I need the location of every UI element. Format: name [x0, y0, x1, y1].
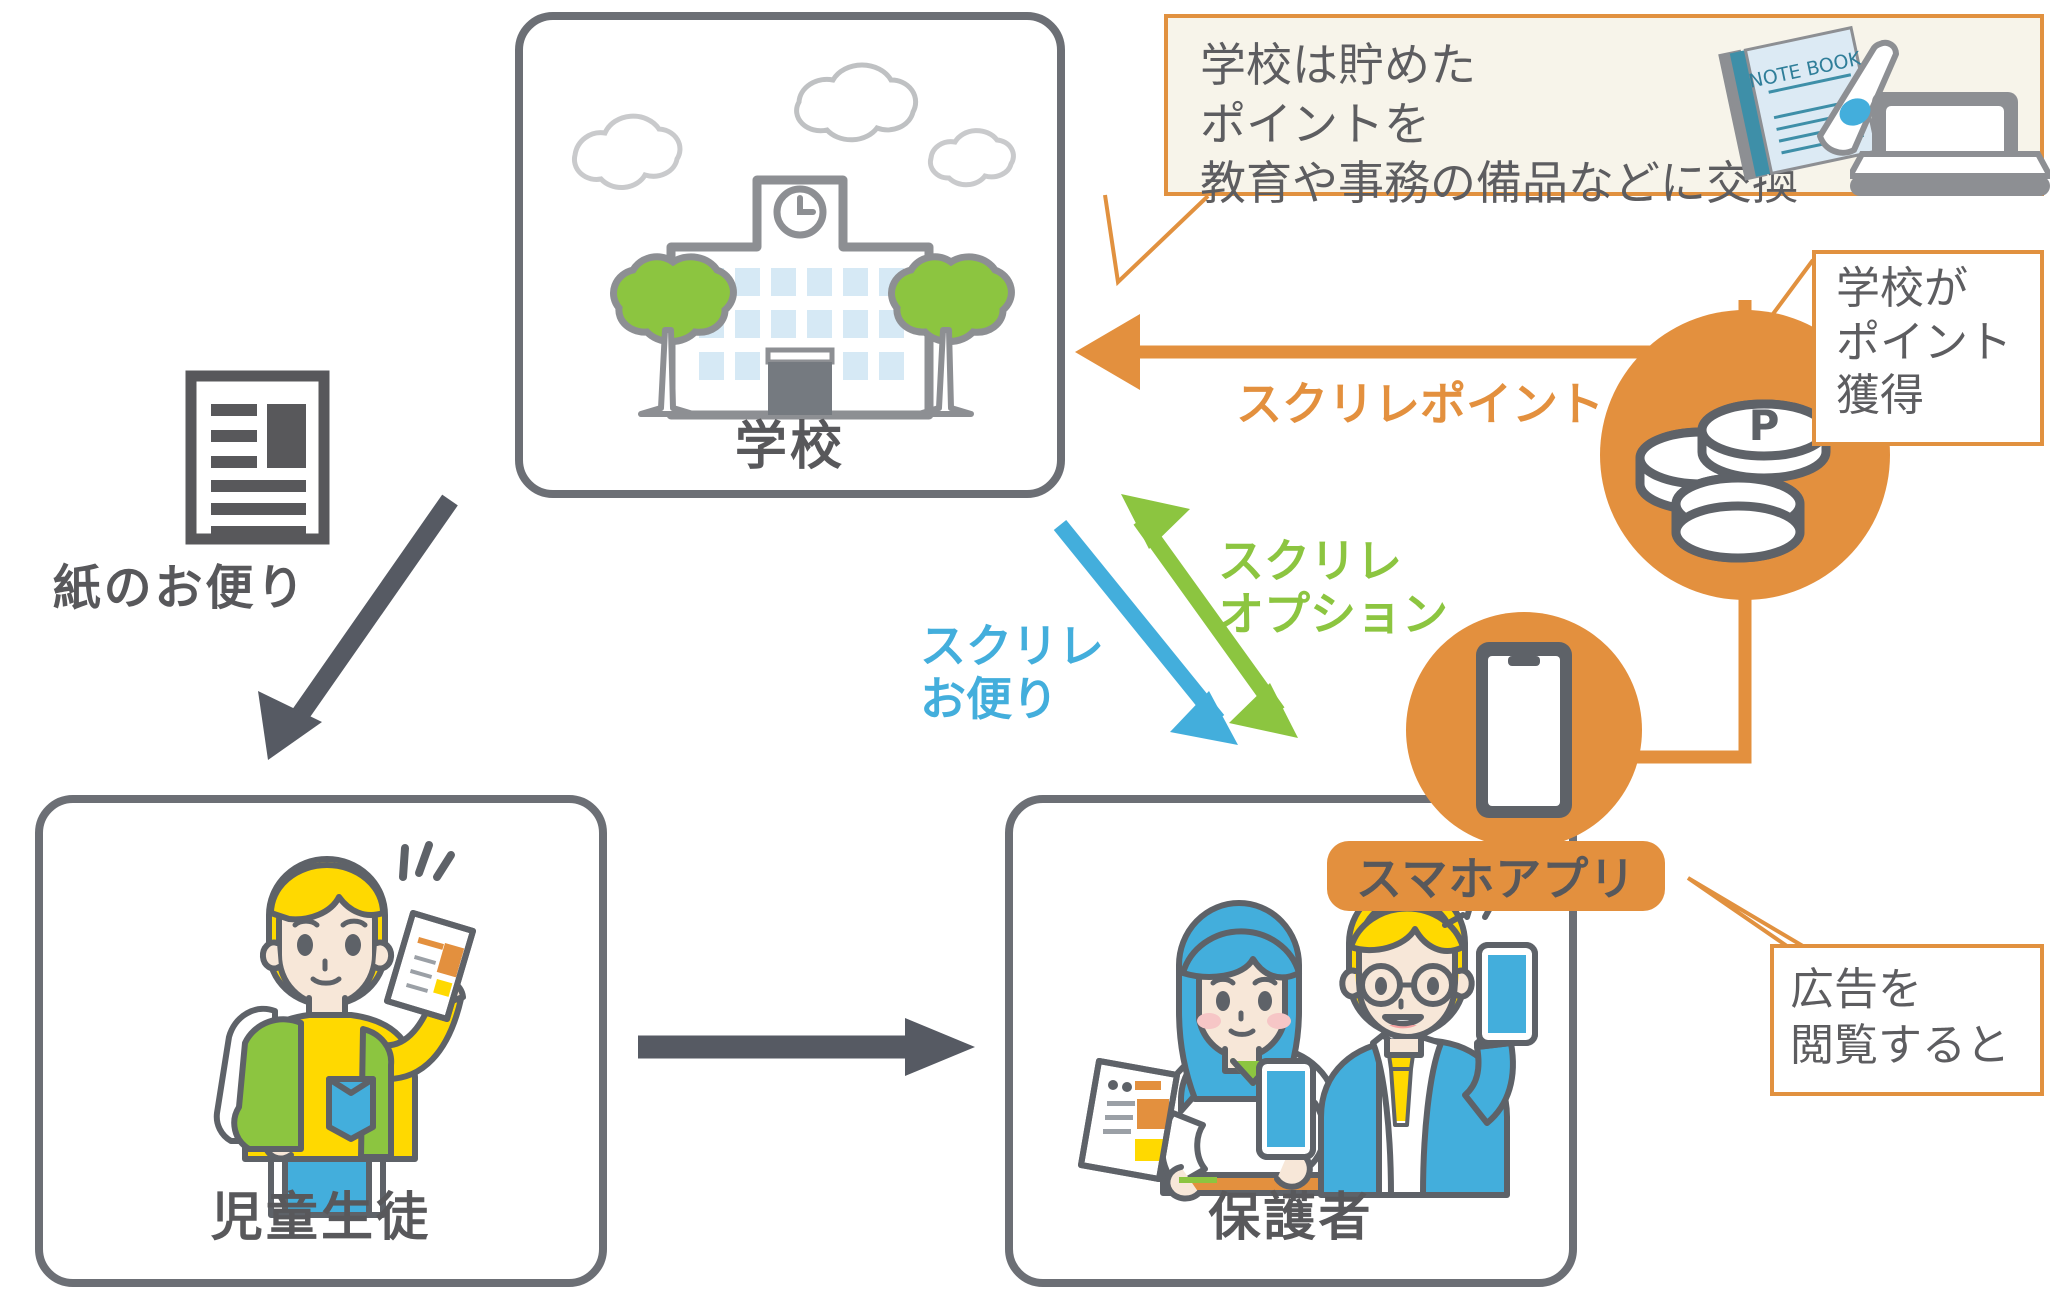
callout-school-gets-points-text: 学校が ポイント 獲得	[1836, 262, 2046, 423]
school-box-label: 学校	[513, 404, 1067, 479]
smartphone-app-chip[interactable]: スマホアプリ	[1327, 841, 1665, 911]
arrow-label-scrile-mail-line1: スクリレ	[920, 620, 1104, 673]
diagram-canvas: 学校	[0, 0, 2054, 1306]
student-box-label: 児童生徒	[33, 1175, 609, 1250]
paper-letter-label: 紙のお便り	[10, 548, 350, 618]
callout-pointer-exchange	[1105, 195, 1208, 282]
arrow-label-scrile-points: スクリレポイント	[1236, 378, 1604, 431]
smartphone-icon	[1476, 642, 1572, 818]
arrow-label-scrile-mail: スクリレ お便り	[920, 620, 1104, 726]
arrow-label-scrile-option-line1: スクリレ	[1218, 535, 1448, 588]
dark-arrow-student-to-guardian	[638, 1018, 975, 1076]
laptop-base-icon	[1850, 150, 2050, 202]
guardian-box-label: 保護者	[1003, 1175, 1579, 1250]
coin-p-symbol: P	[1749, 401, 1780, 450]
callout-view-ads-text: 広告を 閲覧すると	[1790, 962, 2040, 1075]
arrow-label-scrile-mail-line2: お便り	[920, 673, 1104, 726]
paper-document-icon	[185, 370, 330, 545]
smartphone-node[interactable]	[1404, 610, 1644, 850]
